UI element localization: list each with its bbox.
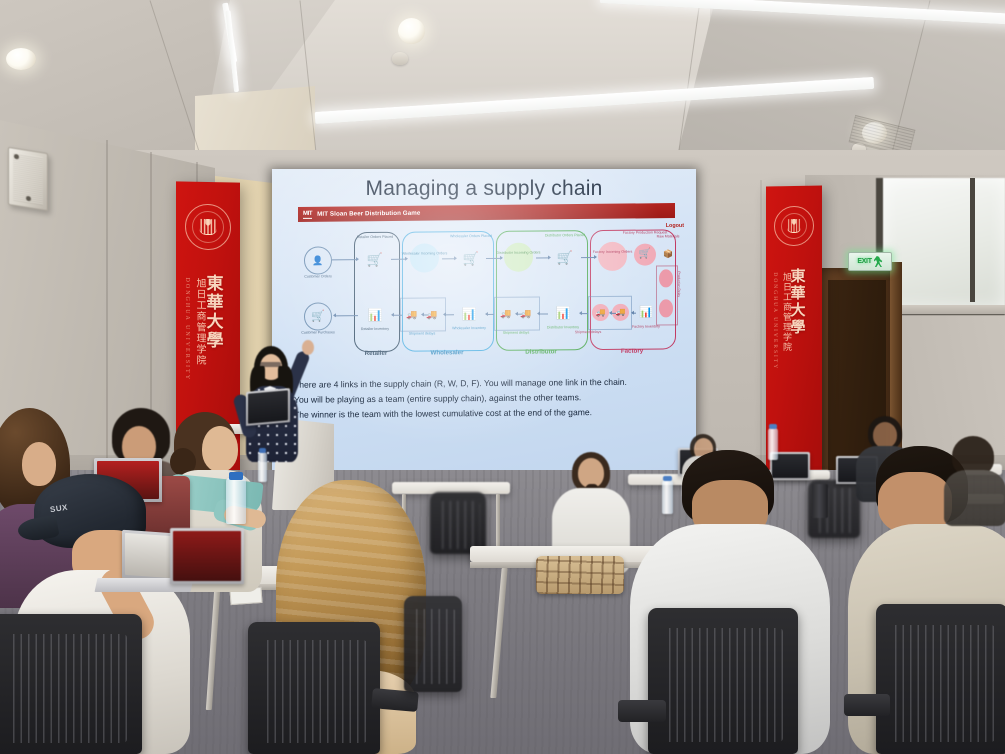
stage-label-retailer: Retailer — [350, 350, 402, 357]
node-factory-production-request: 🛒 Factory Production Request — [634, 244, 656, 266]
seal-inner-ring — [192, 211, 224, 244]
exit-sign-label: EXIT — [857, 258, 871, 265]
smoke-detector-icon — [392, 52, 408, 65]
person-icon: 👤 — [312, 256, 323, 265]
node-customer-purchases: 🛒 Customer Purchases — [304, 302, 332, 330]
node-customer-orders: 👤 Customer Orders — [304, 246, 332, 274]
inventory-icon: 📊 — [556, 307, 571, 319]
speaker-dot — [14, 154, 19, 160]
node-retailer-inventory: 📊 Retailer Inventory — [362, 304, 388, 326]
node-production-delay-step — [659, 269, 673, 287]
arrow-shipment — [334, 315, 358, 316]
wall-groove — [760, 180, 762, 480]
seal-emblem — [787, 219, 801, 233]
speaker-dot — [26, 196, 31, 202]
arrow-orders — [536, 257, 550, 258]
chair-foreground-left[interactable] — [248, 622, 380, 754]
node-factory-incoming-orders: Factory Incoming Orders — [598, 242, 627, 271]
stage-label-distributor: Distributor — [508, 348, 574, 356]
student-right-back — [944, 436, 1005, 526]
chair-armrest — [618, 700, 666, 722]
downlight — [6, 48, 36, 70]
window-mullion — [970, 178, 975, 302]
truck-icon: 🚚 — [500, 309, 511, 318]
cart-icon: 🛒 — [463, 252, 479, 265]
truck-icon: 🚚 — [596, 308, 606, 316]
projection-screen: Managing a supply chain MIT MIT Sloan Be… — [272, 169, 696, 472]
chair-armrest — [844, 694, 890, 716]
banner-subtitle-cn: 旭日工商管理学院 — [192, 278, 207, 366]
node-raw-materials: 📦 Raw Materials — [660, 245, 676, 263]
arrow-shipment — [486, 314, 494, 315]
bullet-2: You will be playing as a team (entire su… — [294, 390, 686, 406]
arrow-shipment — [580, 313, 588, 314]
node-distributor-inventory: 📊 Distributor Inventory — [550, 302, 576, 324]
node-retailer-orders-placed: 🛒 Retailer Orders Placed — [362, 248, 388, 270]
mit-logo: MIT — [303, 210, 312, 218]
bottle-cap — [769, 424, 777, 429]
banner-title-en: DONGHUA UNIVERSITY — [184, 277, 190, 381]
arrow-orders — [581, 257, 596, 258]
node-wholesaler-incoming-orders: Wholesaler Incoming Orders — [410, 243, 439, 272]
laptop-lid — [170, 528, 244, 584]
plaid-bag — [536, 556, 624, 594]
arrow-orders — [391, 259, 407, 260]
wall-speaker-left — [8, 147, 48, 211]
torso — [944, 470, 1005, 526]
arrow-orders — [486, 258, 502, 259]
seal-inner-ring — [781, 213, 807, 239]
truck-icon: 🚚 — [406, 310, 417, 319]
banner-title-en: DONGHUA UNIVERSITY — [772, 272, 778, 370]
label-shipment-delays: Shipment delays — [493, 331, 539, 336]
production-delay-label: Production Delay — [677, 271, 681, 297]
chair-foreground-right[interactable] — [876, 604, 1005, 754]
inventory-icon: 📊 — [639, 307, 653, 318]
inventory-icon: 📊 — [368, 309, 383, 321]
arrow-shipment — [444, 314, 454, 315]
app-title: MIT Sloan Beer Distribution Game — [317, 210, 420, 218]
arrow-orders — [442, 258, 456, 259]
downlight — [398, 18, 425, 44]
arrow-shipment — [516, 314, 522, 315]
slide-title: Managing a supply chain — [272, 177, 696, 201]
laptop-screen — [173, 531, 241, 581]
node-distributor-orders-placed: 🛒 Distributor Orders Placed — [552, 246, 578, 268]
running-person-icon — [874, 256, 883, 267]
chair-foreground-far-left[interactable] — [0, 614, 142, 754]
stage-label-wholesaler: Wholesaler — [414, 349, 480, 357]
arrow-shipment — [422, 314, 428, 315]
node-shipment-delay: 🚚 — [404, 306, 420, 324]
presenter-hand — [302, 340, 314, 355]
stage-label-factory: Factory — [602, 347, 662, 355]
truck-icon: 🚚 — [616, 308, 626, 316]
chair-foreground-center[interactable] — [648, 608, 798, 754]
arrow-orders — [332, 259, 358, 260]
supply-chain-diagram: Retailer Wholesaler Distributor Factory … — [296, 225, 674, 363]
cart-icon: 🛒 — [367, 252, 383, 265]
truck-icon: 🚚 — [426, 310, 437, 319]
label-shipment-delays: Shipment delays — [565, 330, 611, 335]
node-shipment-delay: 🚚 — [498, 305, 514, 323]
app-header-bar: MIT MIT Sloan Beer Distribution Game — [298, 203, 675, 222]
head — [873, 422, 897, 448]
slide: Managing a supply chain MIT MIT Sloan Be… — [272, 169, 696, 472]
arrow-shipment — [632, 313, 636, 314]
chair-mid[interactable] — [404, 596, 462, 692]
classroom-photo: EXIT 東華大學 旭日工商管理学院 DONGHUA UNIVERSITY 東華… — [0, 0, 1005, 754]
emergency-exit-sign: EXIT — [848, 252, 892, 271]
cart-icon: 🛒 — [639, 250, 651, 260]
arrow-shipment — [538, 313, 548, 314]
truck-icon: 🚚 — [520, 309, 531, 318]
bullet-3: The winner is the team with the lowest c… — [294, 405, 686, 421]
node-distributor-incoming-orders: Distributor Incoming Orders — [504, 243, 533, 272]
label-shipment-delays: Shipment delays — [399, 331, 445, 336]
bullet-1: There are 4 links in the supply chain (R… — [294, 375, 686, 391]
box-icon: 📦 — [663, 250, 673, 258]
slide-bullets: There are 4 links in the supply chain (R… — [294, 375, 686, 424]
seal-emblem — [199, 219, 217, 236]
node-wholesaler-orders-placed: 🛒 Wholesaler Orders Placed — [458, 247, 484, 269]
node-shipment-delay: 🚚 — [592, 304, 609, 321]
head — [202, 426, 238, 472]
cart-icon: 🛒 — [311, 311, 325, 322]
node-production-delay-step — [659, 299, 673, 317]
cart-icon: 🛒 — [557, 251, 573, 264]
arrow-shipment — [610, 313, 616, 314]
university-seal-icon — [774, 206, 814, 247]
node-factory-inventory: 📊 Factory Inventory — [634, 301, 658, 323]
university-seal-icon — [185, 204, 231, 251]
node-wholesaler-inventory: 📊 Wholesaler Inventory — [456, 303, 482, 325]
inventory-icon: 📊 — [462, 308, 477, 320]
arrow-shipment — [392, 315, 402, 316]
banner-subtitle-cn: 旭日工商管理学院 — [780, 272, 793, 352]
